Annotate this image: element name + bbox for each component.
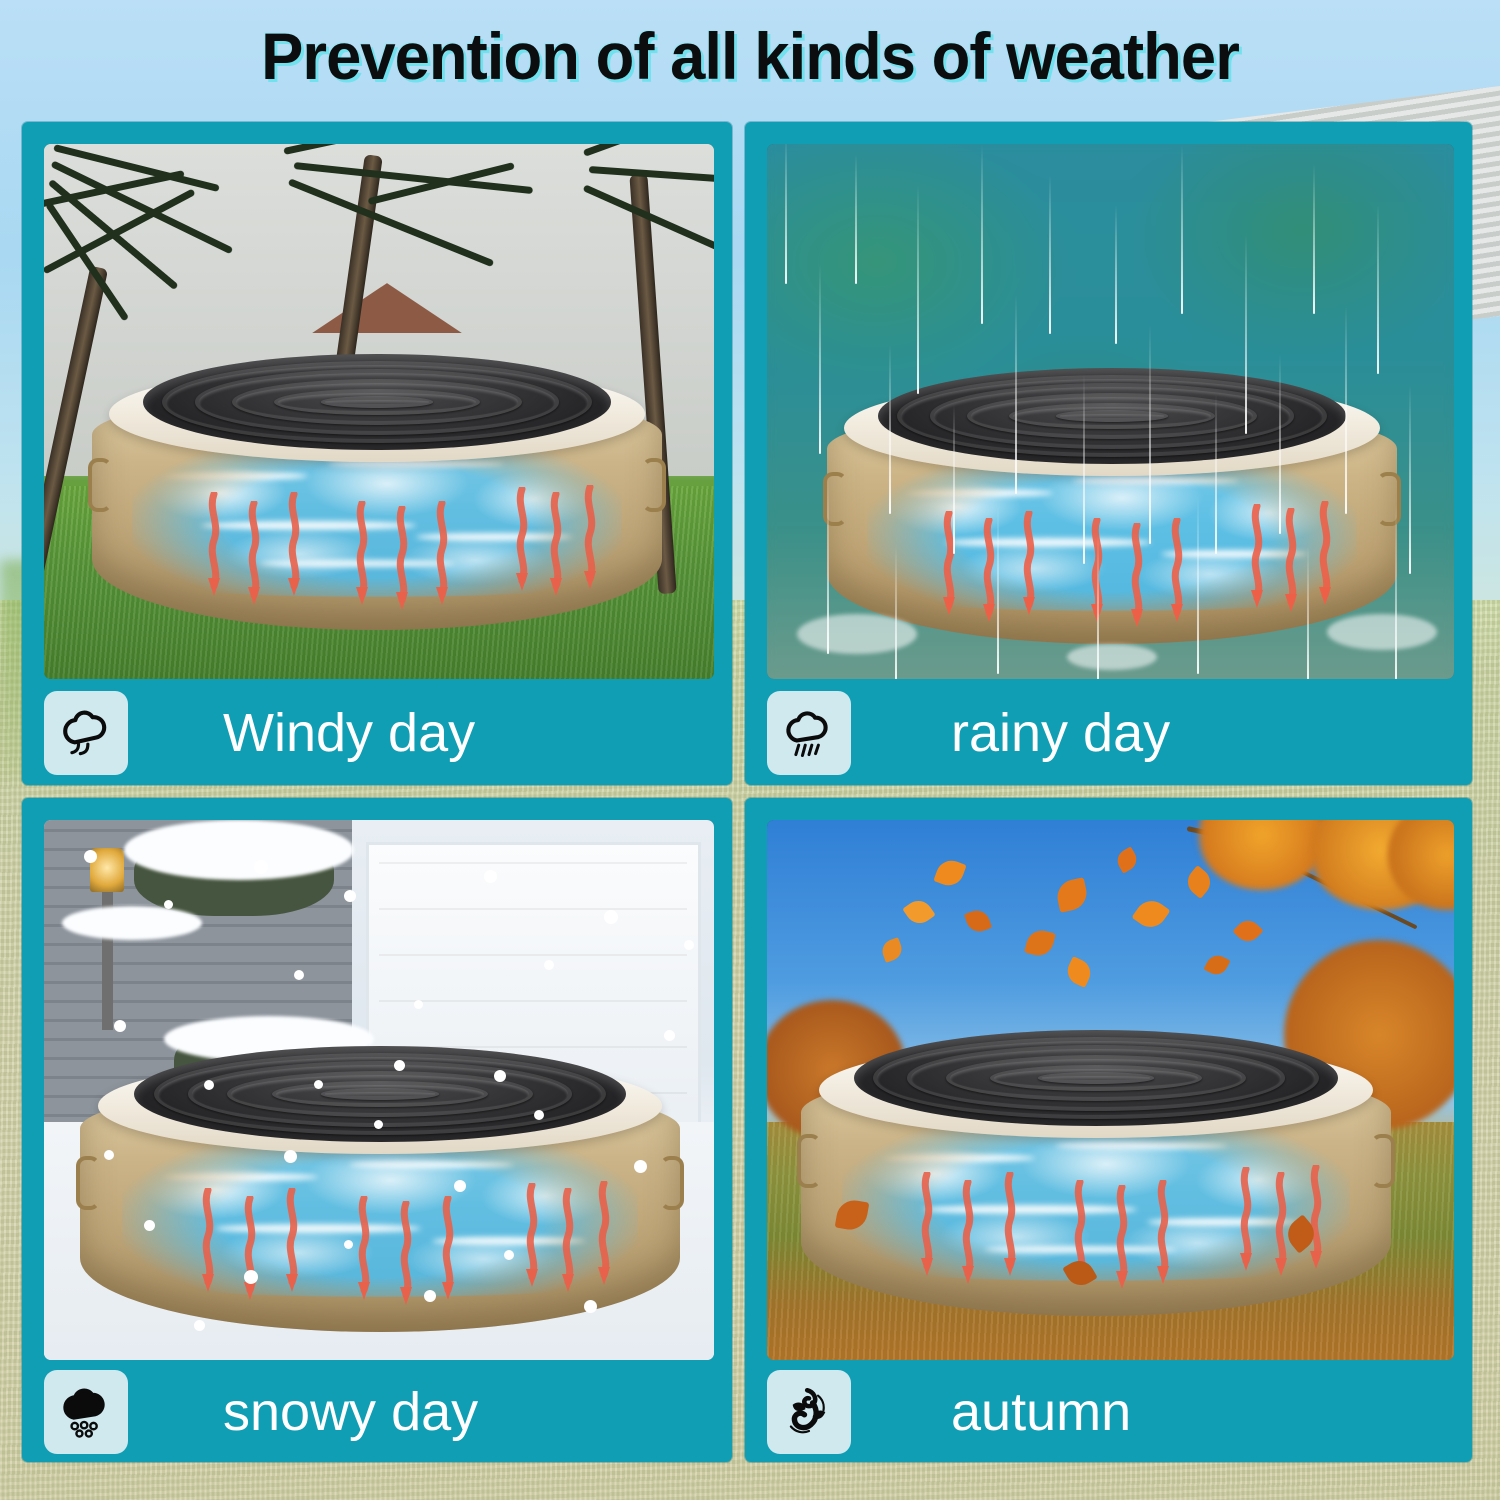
snowy-snow-cap-2	[62, 906, 202, 940]
weather-panel-rainy[interactable]: rainy day	[745, 122, 1472, 785]
tub-insulating-cover	[878, 368, 1345, 464]
tub-handle-left	[76, 1156, 100, 1210]
tub-handle-right	[1377, 472, 1401, 526]
scene-snowy	[44, 820, 714, 1360]
caption-snowy: snowy day	[44, 1362, 732, 1462]
photo-snowy	[44, 820, 714, 1360]
snowy-snow-cap-1	[124, 820, 354, 880]
tub-insulating-cover	[143, 354, 610, 450]
weather-panel-snowy[interactable]: snowy day	[22, 798, 732, 1462]
hot-tub-windy	[92, 340, 662, 630]
tub-handle-right	[1371, 1134, 1395, 1188]
page-title: Prevention of all kinds of weather	[30, 18, 1470, 94]
rain-cloud-icon	[767, 691, 851, 775]
snow-cloud-icon	[44, 1370, 128, 1454]
snowy-lamp-post	[102, 880, 113, 1030]
tub-handle-left	[797, 1134, 821, 1188]
photo-windy	[44, 144, 714, 679]
caption-label-windy: Windy day	[223, 704, 475, 762]
caption-label-autumn: autumn	[951, 1383, 1131, 1441]
tub-handle-right	[660, 1156, 684, 1210]
photo-autumn	[767, 820, 1454, 1360]
windy-cloud-icon	[44, 691, 128, 775]
caption-windy: Windy day	[44, 680, 732, 785]
scene-autumn	[767, 820, 1454, 1360]
caption-rainy: rainy day	[767, 680, 1472, 785]
hot-tub-snowy	[80, 1032, 680, 1332]
caption-label-rainy: rainy day	[951, 704, 1170, 762]
scene-rainy	[767, 144, 1454, 679]
weather-panel-autumn[interactable]: autumn	[745, 798, 1472, 1462]
tub-handle-right	[642, 458, 666, 512]
autumn-leaf-swirl-icon	[767, 1370, 851, 1454]
hot-tub-autumn	[801, 1016, 1391, 1316]
hot-tub-rainy	[827, 354, 1397, 644]
weather-panel-windy[interactable]: Windy day	[22, 122, 732, 785]
caption-label-snowy: snowy day	[223, 1383, 478, 1441]
tub-handle-left	[88, 458, 112, 512]
caption-autumn: autumn	[767, 1362, 1472, 1462]
photo-rainy	[767, 144, 1454, 679]
scene-windy	[44, 144, 714, 679]
tub-insulating-cover	[854, 1030, 1338, 1126]
